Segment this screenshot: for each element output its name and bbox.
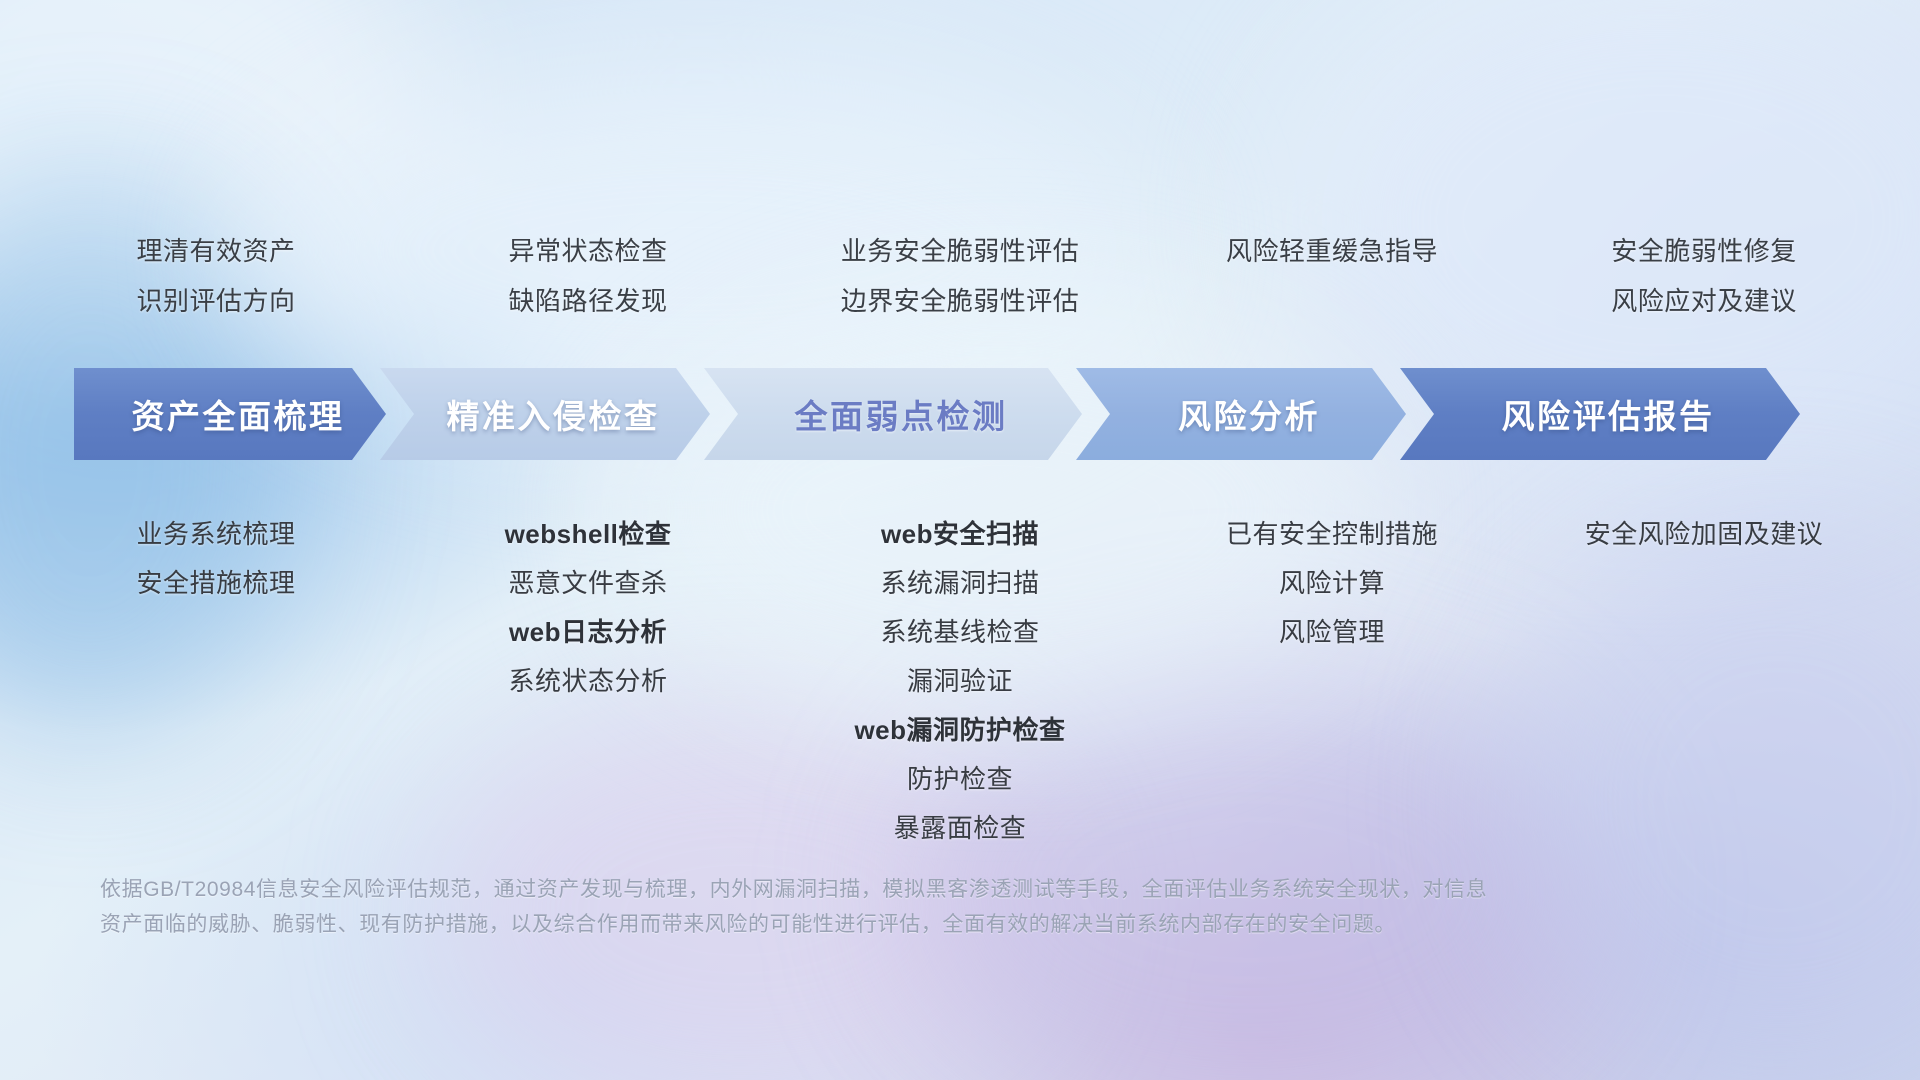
stage-outcomes-col-2: 异常状态检查缺陷路径发现	[402, 226, 774, 326]
stage-outcome: 缺陷路径发现	[508, 276, 667, 326]
stage-activity: 安全风险加固及建议	[1585, 510, 1824, 559]
stage-activities-col-3: web安全扫描系统漏洞扫描系统基线检查漏洞验证web漏洞防护检查防护检查暴露面检…	[774, 510, 1146, 853]
process-step-1[interactable]: 资产全面梳理	[74, 368, 386, 460]
stage-outcome: 边界安全脆弱性评估	[841, 276, 1080, 326]
stage-activity: 系统漏洞扫描	[880, 559, 1039, 608]
process-step-label: 全面弱点检测	[795, 390, 1008, 438]
stage-activity: 安全措施梳理	[136, 559, 295, 608]
stage-activity: 系统基线检查	[880, 608, 1039, 657]
stage-activity: 风险管理	[1279, 608, 1385, 657]
stage-outcome: 理清有效资产	[136, 226, 295, 276]
process-step-4[interactable]: 风险分析	[1076, 368, 1406, 460]
stage-activities-col-4: 已有安全控制措施风险计算风险管理	[1146, 510, 1518, 657]
stage-activities-col-2: webshell检查恶意文件查杀web日志分析系统状态分析	[402, 510, 774, 706]
footer-description: 依据GB/T20984信息安全风险评估规范，通过资产发现与梳理，内外网漏洞扫描，…	[100, 872, 1620, 942]
stage-activity: web漏洞防护检查	[854, 706, 1065, 755]
stage-outcomes-col-4: 风险轻重缓急指导	[1146, 226, 1518, 276]
stage-activities-row: 业务系统梳理安全措施梳理webshell检查恶意文件查杀web日志分析系统状态分…	[30, 510, 1890, 853]
stage-activity: web安全扫描	[881, 510, 1039, 559]
stage-activity: 防护检查	[907, 755, 1013, 804]
stage-outcomes-col-5: 安全脆弱性修复风险应对及建议	[1518, 226, 1890, 326]
stage-outcome: 业务安全脆弱性评估	[841, 226, 1080, 276]
process-step-label: 资产全面梳理	[132, 390, 345, 438]
stage-activity: 漏洞验证	[907, 657, 1013, 706]
stage-outcome: 安全脆弱性修复	[1611, 226, 1797, 276]
stage-activity: 风险计算	[1279, 559, 1385, 608]
stage-outcomes-row: 理清有效资产识别评估方向异常状态检查缺陷路径发现业务安全脆弱性评估边界安全脆弱性…	[30, 226, 1890, 326]
stage-activities-col-1: 业务系统梳理安全措施梳理	[30, 510, 402, 608]
stage-outcome: 风险轻重缓急指导	[1226, 226, 1438, 276]
slide-canvas: 理清有效资产识别评估方向异常状态检查缺陷路径发现业务安全脆弱性评估边界安全脆弱性…	[0, 0, 1920, 1080]
stage-activity: 业务系统梳理	[136, 510, 295, 559]
stage-outcome: 识别评估方向	[136, 276, 295, 326]
stage-activities-col-5: 安全风险加固及建议	[1518, 510, 1890, 559]
process-step-label: 精准入侵检查	[447, 390, 660, 438]
process-step-3[interactable]: 全面弱点检测	[704, 368, 1082, 460]
process-step-2[interactable]: 精准入侵检查	[380, 368, 710, 460]
footer-line-2: 资产面临的威胁、脆弱性、现有防护措施，以及综合作用而带来风险的可能性进行评估，全…	[100, 907, 1620, 942]
stage-activity: 恶意文件查杀	[508, 559, 667, 608]
stage-activity: 系统状态分析	[508, 657, 667, 706]
stage-outcome: 异常状态检查	[508, 226, 667, 276]
stage-outcomes-col-3: 业务安全脆弱性评估边界安全脆弱性评估	[774, 226, 1146, 326]
stage-outcomes-col-1: 理清有效资产识别评估方向	[30, 226, 402, 326]
stage-activity: webshell检查	[505, 510, 672, 559]
process-step-label: 风险评估报告	[1502, 390, 1715, 438]
process-step-5[interactable]: 风险评估报告	[1400, 368, 1800, 460]
footer-line-1: 依据GB/T20984信息安全风险评估规范，通过资产发现与梳理，内外网漏洞扫描，…	[100, 872, 1620, 907]
stage-activity: 已有安全控制措施	[1226, 510, 1438, 559]
process-step-label: 风险分析	[1178, 390, 1320, 438]
process-arrow-band: 资产全面梳理精准入侵检查全面弱点检测风险分析风险评估报告	[74, 368, 1864, 460]
stage-activity: web日志分析	[509, 608, 667, 657]
stage-activity: 暴露面检查	[894, 804, 1027, 853]
stage-outcome: 风险应对及建议	[1611, 276, 1797, 326]
